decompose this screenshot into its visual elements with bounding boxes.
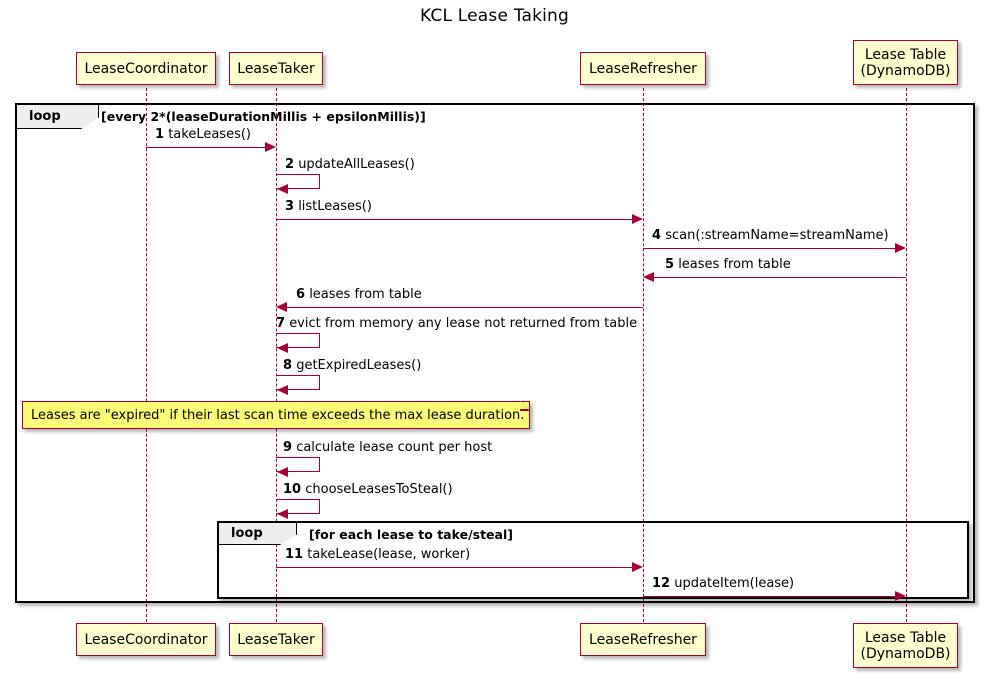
message-line-5 bbox=[654, 277, 906, 278]
message-text-2: updateAllLeases() bbox=[298, 157, 415, 172]
message-label-1: 1 takeLeases() bbox=[155, 127, 251, 142]
participant-lease-coordinator-top[interactable]: LeaseCoordinator bbox=[76, 52, 216, 85]
message-number-12: 12 bbox=[652, 576, 670, 591]
message-number-4: 4 bbox=[652, 228, 661, 243]
participant-label: LeaseTaker bbox=[237, 632, 314, 648]
message-number-9: 9 bbox=[283, 440, 292, 455]
message-text-10: chooseLeasesToSteal() bbox=[305, 482, 452, 497]
message-number-2: 2 bbox=[285, 157, 294, 172]
loop-keyword-outer: loop bbox=[29, 109, 61, 124]
message-text-3: listLeases() bbox=[298, 199, 372, 214]
message-line-4 bbox=[643, 248, 895, 249]
participant-lease-refresher-top[interactable]: LeaseRefresher bbox=[580, 52, 706, 85]
message-number-7: 7 bbox=[276, 316, 285, 331]
loop-condition-inner: [for each lease to take/steal] bbox=[309, 527, 513, 542]
message-text-6: leases from table bbox=[309, 287, 422, 302]
participant-lease-table-top[interactable]: Lease Table (DynamoDB) bbox=[853, 40, 958, 85]
message-text-1: takeLeases() bbox=[168, 127, 251, 142]
message-line-3 bbox=[276, 219, 632, 220]
message-arrowhead-3 bbox=[632, 214, 643, 224]
message-line-6 bbox=[287, 307, 643, 308]
message-label-5: 5 leases from table bbox=[665, 257, 791, 272]
message-label-2: 2 updateAllLeases() bbox=[285, 157, 415, 172]
participant-label: LeaseRefresher bbox=[589, 632, 697, 648]
message-arrowhead-5 bbox=[643, 272, 654, 282]
message-number-10: 10 bbox=[283, 482, 301, 497]
participant-lease-table-bottom[interactable]: Lease Table (DynamoDB) bbox=[853, 623, 958, 668]
sequence-diagram: KCL Lease Taking loop [every 2*(leaseDur… bbox=[0, 0, 989, 681]
message-arrowhead-12 bbox=[895, 591, 906, 601]
participant-label: LeaseCoordinator bbox=[84, 632, 207, 648]
message-arrowhead-1 bbox=[265, 142, 276, 152]
message-number-3: 3 bbox=[285, 199, 294, 214]
message-arrowhead-7 bbox=[277, 343, 288, 353]
message-number-11: 11 bbox=[285, 547, 303, 562]
participant-lease-taker-bottom[interactable]: LeaseTaker bbox=[229, 623, 323, 656]
loop-condition-outer: [every 2*(leaseDurationMillis + epsilonM… bbox=[101, 109, 426, 124]
loop-keyword-inner: loop bbox=[231, 526, 263, 541]
message-line-1 bbox=[146, 147, 265, 148]
message-text-8: getExpiredLeases() bbox=[296, 358, 421, 373]
message-line-12 bbox=[643, 596, 895, 597]
note-fold-inner-icon bbox=[520, 401, 528, 409]
message-arrowhead-4 bbox=[895, 243, 906, 253]
message-label-12: 12 updateItem(lease) bbox=[652, 576, 794, 591]
message-line-11 bbox=[276, 567, 632, 568]
message-number-8: 8 bbox=[283, 358, 292, 373]
message-text-7: evict from memory any lease not returned… bbox=[289, 316, 637, 331]
message-label-11: 11 takeLease(lease, worker) bbox=[285, 547, 470, 562]
message-number-6: 6 bbox=[296, 287, 305, 302]
message-label-8: 8 getExpiredLeases() bbox=[283, 358, 421, 373]
message-label-6: 6 leases from table bbox=[296, 287, 422, 302]
message-label-4: 4 scan(:streamName=streamName) bbox=[652, 228, 889, 243]
message-arrowhead-2 bbox=[277, 184, 288, 194]
page-title: KCL Lease Taking bbox=[0, 6, 989, 26]
message-text-5: leases from table bbox=[678, 257, 791, 272]
message-label-3: 3 listLeases() bbox=[285, 199, 372, 214]
message-text-12: updateItem(lease) bbox=[674, 576, 794, 591]
message-text-9: calculate lease count per host bbox=[296, 440, 492, 455]
message-arrowhead-11 bbox=[632, 562, 643, 572]
message-arrowhead-9 bbox=[277, 467, 288, 477]
participant-lease-refresher-bottom[interactable]: LeaseRefresher bbox=[580, 623, 706, 656]
message-number-1: 1 bbox=[155, 127, 164, 142]
message-label-7: 7 evict from memory any lease not return… bbox=[276, 316, 637, 331]
message-label-9: 9 calculate lease count per host bbox=[283, 440, 492, 455]
note-text: Leases are "expired" if their last scan … bbox=[31, 408, 524, 423]
participant-label: LeaseRefresher bbox=[589, 61, 697, 77]
participant-lease-taker-top[interactable]: LeaseTaker bbox=[229, 52, 323, 85]
message-text-4: scan(:streamName=streamName) bbox=[665, 228, 888, 243]
note-expired-leases: Leases are "expired" if their last scan … bbox=[22, 401, 530, 429]
message-number-5: 5 bbox=[665, 257, 674, 272]
message-label-10: 10 chooseLeasesToSteal() bbox=[283, 482, 453, 497]
participant-label: LeaseCoordinator bbox=[84, 61, 207, 77]
participant-lease-coordinator-bottom[interactable]: LeaseCoordinator bbox=[76, 623, 216, 656]
participant-label: Lease Table (DynamoDB) bbox=[860, 47, 950, 79]
message-text-11: takeLease(lease, worker) bbox=[307, 547, 470, 562]
message-arrowhead-10 bbox=[277, 509, 288, 519]
participant-label: LeaseTaker bbox=[237, 61, 314, 77]
message-arrowhead-8 bbox=[277, 385, 288, 395]
message-arrowhead-6 bbox=[276, 302, 287, 312]
participant-label: Lease Table (DynamoDB) bbox=[860, 630, 950, 662]
